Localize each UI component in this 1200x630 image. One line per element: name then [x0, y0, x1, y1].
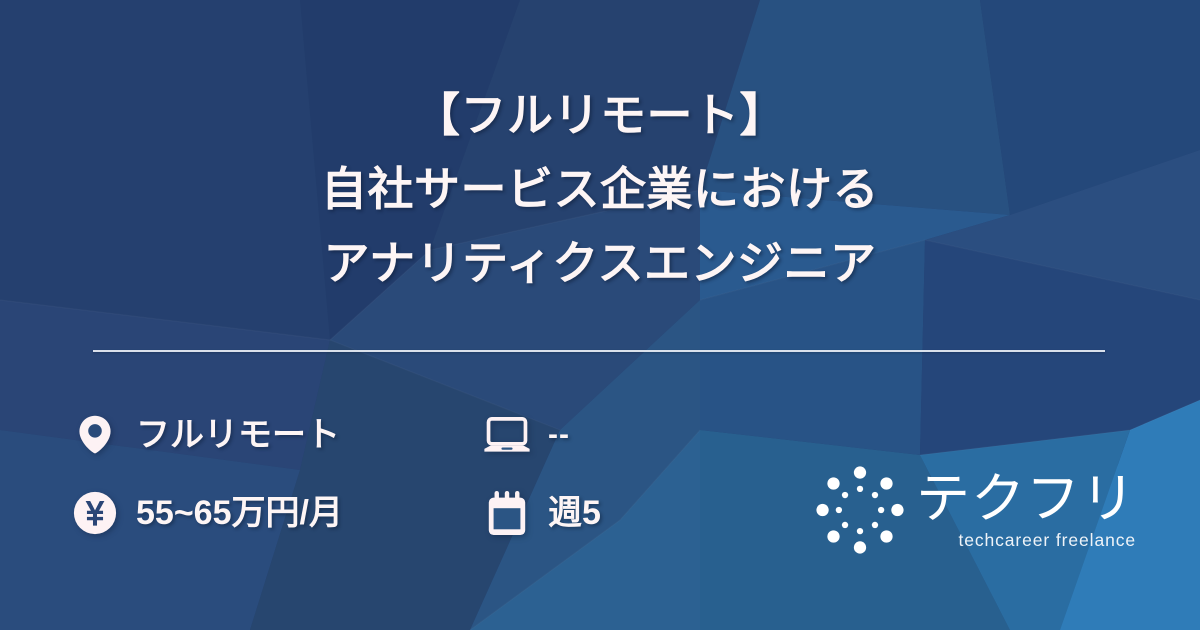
meta-label-worktype: --: [548, 420, 570, 450]
dot-cluster-logo-icon: [812, 462, 908, 558]
logo-text-group: テクフリ techcareer freelance: [916, 470, 1136, 551]
meta-label-location: フルリモート: [136, 418, 340, 452]
meta-row: 55~65万円/月 週5: [68, 474, 601, 552]
logo-wordmark: テクフリ: [916, 470, 1136, 528]
meta-label-workdays: 週5: [548, 496, 601, 530]
divider: [93, 350, 1105, 352]
title-line-3: アナリティクスエンジニア: [0, 226, 1200, 300]
laptop-icon: [480, 408, 534, 462]
ogp-card: 【フルリモート】 自社サービス企業における アナリティクスエンジニア フルリモー…: [0, 0, 1200, 630]
brand-logo: テクフリ techcareer freelance: [812, 462, 1138, 558]
title-line-2: 自社サービス企業における: [0, 152, 1200, 226]
meta-item-salary: 55~65万円/月: [68, 486, 480, 540]
title-line-1: 【フルリモート】: [0, 78, 1200, 152]
logo-tagline: techcareer freelance: [958, 529, 1136, 551]
meta-item-worktype: --: [480, 408, 570, 462]
meta-label-salary: 55~65万円/月: [136, 496, 343, 530]
page-title: 【フルリモート】 自社サービス企業における アナリティクスエンジニア: [0, 78, 1200, 300]
calendar-icon: [480, 486, 534, 540]
meta-item-workdays: 週5: [480, 486, 601, 540]
meta-item-location: フルリモート: [68, 408, 480, 462]
location-pin-icon: [68, 408, 122, 462]
job-meta-list: フルリモート --: [68, 396, 601, 552]
yen-circle-icon: [68, 486, 122, 540]
meta-row: フルリモート --: [68, 396, 601, 474]
